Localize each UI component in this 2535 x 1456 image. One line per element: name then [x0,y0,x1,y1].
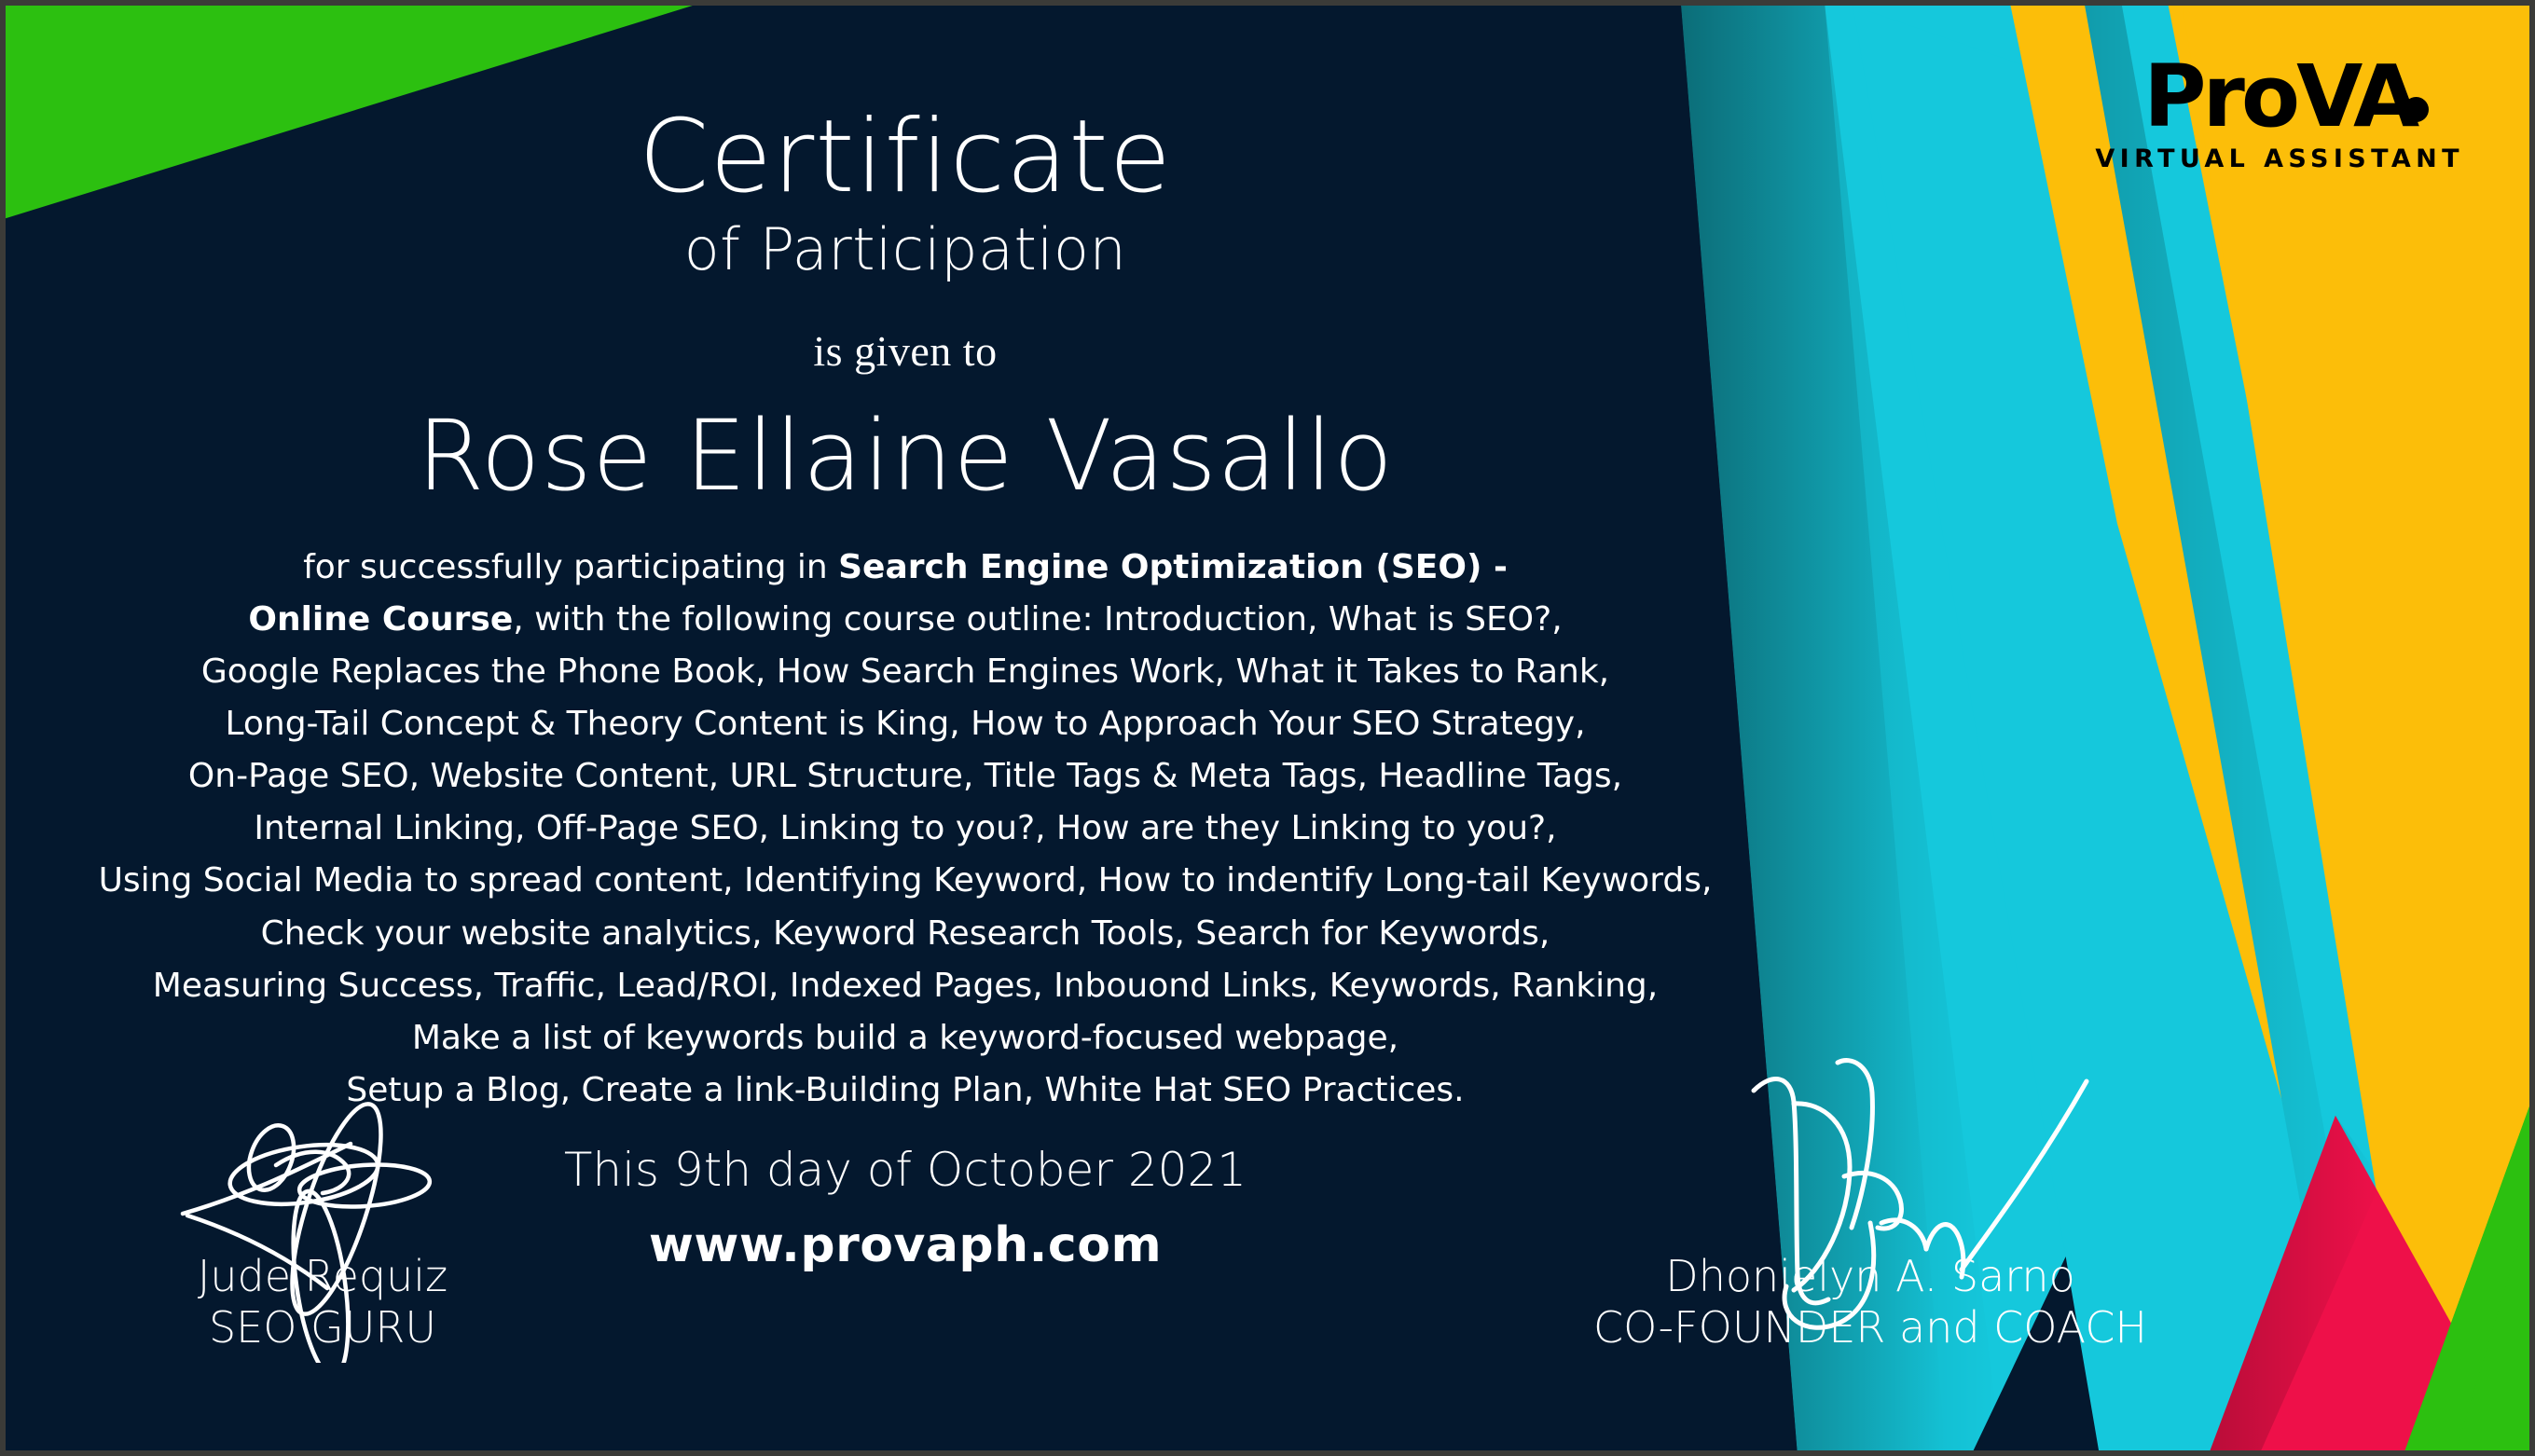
course-body-text: Google Replaces the Phone Book, How Sear… [201,652,1609,691]
course-description: for successfully participating in Search… [6,508,1805,1118]
course-description-line: Using Social Media to spread content, Id… [6,855,1805,907]
course-description-line: Setup a Blog, Create a link-Building Pla… [6,1065,1805,1117]
signature-block-left: Jude Requiz SEO GURU [62,1251,584,1353]
shape-yellow-right-edge [2183,6,2529,1450]
course-title-text: Online Course [248,600,513,639]
shape-cyan-band-second [1853,6,2529,1450]
certificate-document: ProVA VIRTUAL ASSISTANT Certificate of P… [0,0,2535,1456]
course-body-text: for successfully participating in [303,548,838,586]
award-date: This 9th day of October 2021 [6,1117,1805,1197]
logo-tagline: VIRTUAL ASSISTANT [2095,146,2464,172]
shape-yellow-panel [1862,6,2529,1450]
shape-cyan-ray-thin [2085,6,2456,1450]
shape-yellow-field-right [1681,6,2529,1450]
brand-logo: ProVA VIRTUAL ASSISTANT [2095,54,2464,172]
course-description-line: for successfully participating in Search… [6,542,1805,594]
course-description-line: Check your website analytics, Keyword Re… [6,908,1805,960]
course-body-text: On-Page SEO, Website Content, URL Struct… [188,757,1622,795]
shape-green-triangle-bottomright-b [2405,1106,2529,1450]
course-title-text: Search Engine Optimization (SEO) - [838,548,1508,586]
course-body-text: Using Social Media to spread content, Id… [99,861,1713,900]
course-body-text: , with the following course outline: Int… [513,600,1562,639]
course-body-text: Long-Tail Concept & Theory Content is Ki… [225,705,1585,743]
signer-role: SEO GURU [62,1302,584,1353]
course-body-text: Measuring Success, Traffic, Lead/ROI, In… [153,967,1658,1005]
logo-wordmark: ProVA [2095,54,2464,140]
signer-name: Jude Requiz [62,1251,584,1301]
logo-dot-accent [2404,97,2429,122]
shape-cyan-ray-thin-shadow [2085,6,2382,1450]
course-description-line: Long-Tail Concept & Theory Content is Ki… [6,698,1805,750]
certificate-content: Certificate of Participation is given to… [6,6,1805,1450]
course-body-text: Make a list of keywords build a keyword-… [412,1019,1398,1057]
course-description-line: Measuring Success, Traffic, Lead/ROI, In… [6,960,1805,1012]
given-to-label: is given to [6,282,1805,376]
course-description-line: Online Course, with the following course… [6,594,1805,646]
recipient-name: Rose Ellaine Vasallo [6,376,1805,507]
shape-yellow-wedge-overlay [2010,6,2529,1450]
course-description-line: Make a list of keywords build a keyword-… [6,1012,1805,1065]
course-description-line: Google Replaces the Phone Book, How Sear… [6,646,1805,698]
shape-cyan-wedge-large [1681,6,2529,1450]
course-description-line: On-Page SEO, Website Content, URL Struct… [6,750,1805,803]
course-body-text: Internal Linking, Off-Page SEO, Linking … [254,809,1556,847]
course-body-text: Setup a Blog, Create a link-Building Pla… [346,1071,1464,1109]
course-body-text: Check your website analytics, Keyword Re… [261,914,1550,953]
certificate-subtitle: of Participation [6,209,1805,282]
shape-green-triangle-bottomright [2405,1106,2529,1450]
signer-name: Dhonielyn A. Sarno [1460,1251,2280,1301]
course-description-line: Internal Linking, Off-Page SEO, Linking … [6,803,1805,855]
signature-block-right: Dhonielyn A. Sarno CO-FOUNDER and COACH [1460,1251,2280,1353]
certificate-title: Certificate [6,6,1805,209]
signer-role: CO-FOUNDER and COACH [1460,1302,2280,1353]
